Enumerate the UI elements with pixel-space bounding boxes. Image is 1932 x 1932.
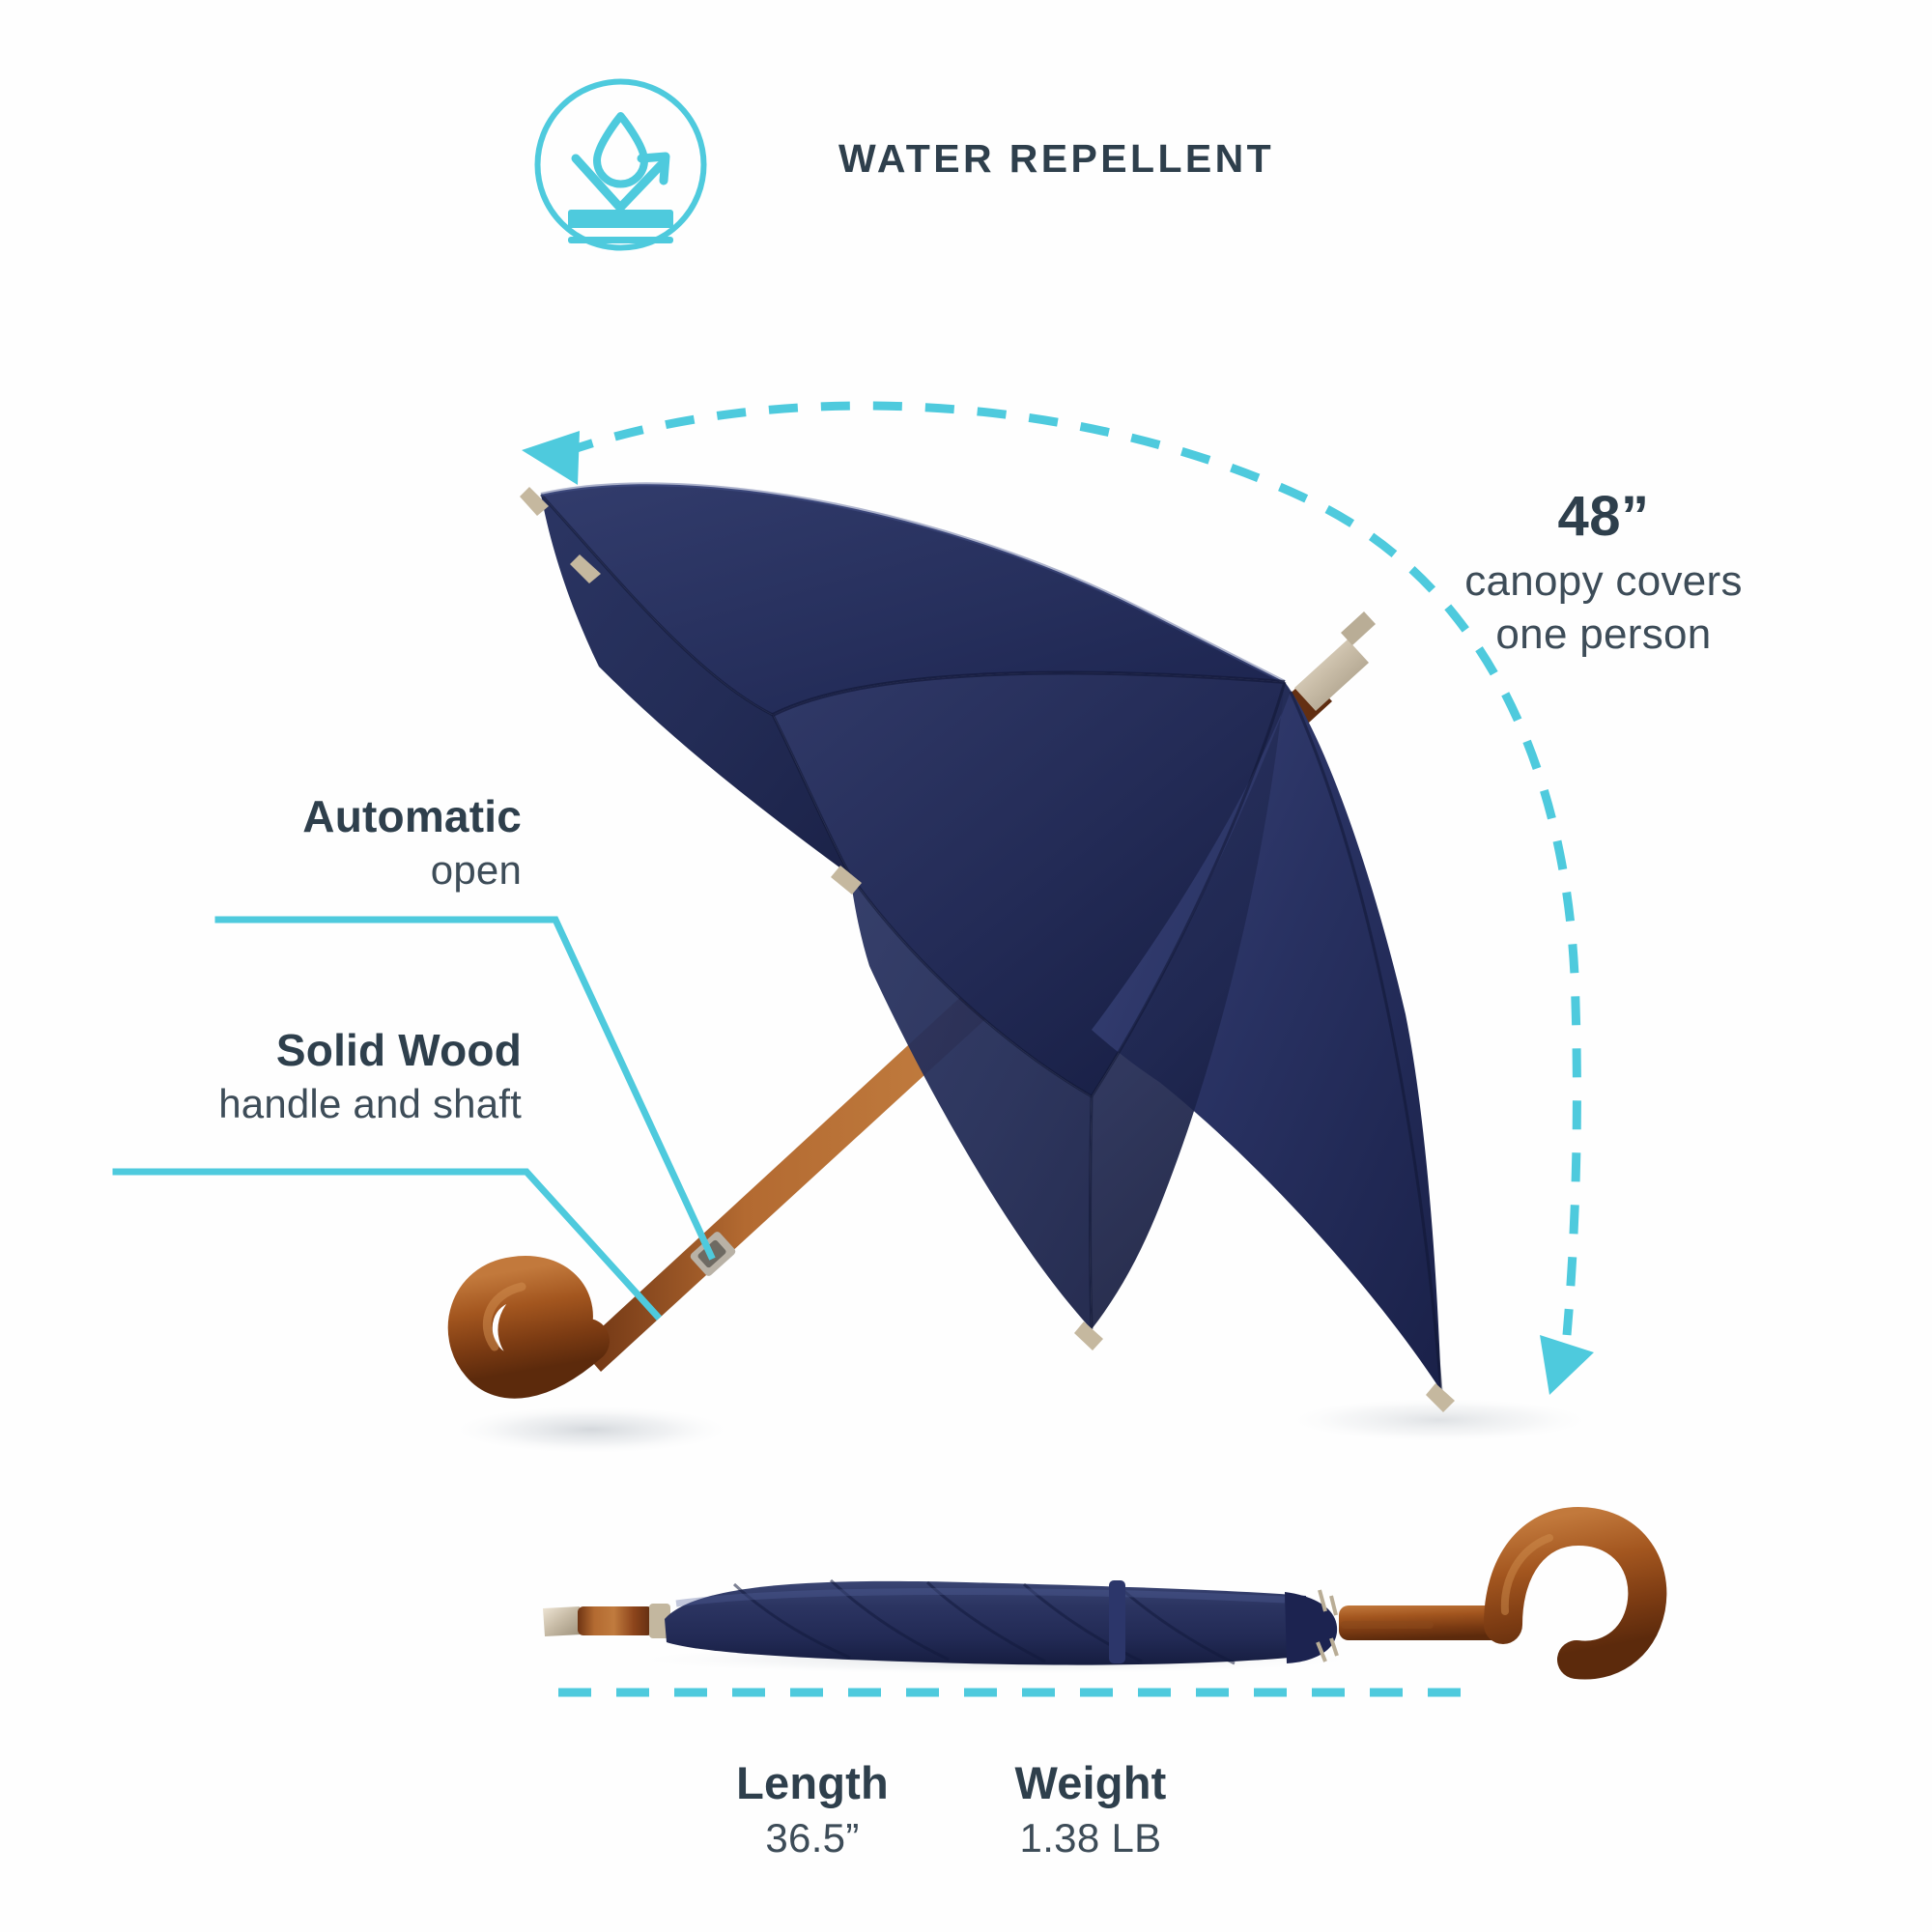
spec-weight-label: Weight: [980, 1758, 1202, 1808]
arrowhead-left: [522, 431, 580, 485]
page-title: WATER REPELLENT: [838, 136, 1274, 182]
spec-list: Length 36.5” Weight 1.38 LB: [667, 1758, 1236, 1862]
spec-length: Length 36.5”: [701, 1758, 923, 1862]
arrowhead-bottom: [1540, 1335, 1594, 1395]
leader-line-solid-wood: [116, 1172, 657, 1316]
callout-solid-wood: Solid Wood handle and shaft: [10, 1026, 522, 1128]
auto-open-latch: [689, 1230, 737, 1277]
canopy-size-value: 48”: [1381, 488, 1826, 547]
callout-automatic-title: Automatic: [29, 792, 522, 842]
callout-automatic-subtitle: open: [29, 846, 522, 895]
canopy-description: canopy covers one person: [1381, 554, 1826, 661]
canopy-tips: [520, 487, 1455, 1412]
spec-weight: Weight 1.38 LB: [980, 1758, 1202, 1862]
water-repellent-badge: WATER REPELLENT: [531, 75, 1304, 259]
callout-solid-wood-subtitle: handle and shaft: [10, 1080, 522, 1128]
canopy-description-line2: one person: [1381, 608, 1826, 661]
water-repellent-icon: [531, 75, 710, 254]
product-art-layer: [0, 0, 1932, 1932]
spec-length-label: Length: [701, 1758, 923, 1808]
canopy-description-line1: canopy covers: [1381, 554, 1826, 608]
spec-length-value: 36.5”: [701, 1814, 923, 1862]
annotation-layer: [0, 0, 1932, 1932]
callout-solid-wood-title: Solid Wood: [10, 1026, 522, 1076]
spec-weight-value: 1.38 LB: [980, 1814, 1202, 1862]
callout-automatic: Automatic open: [29, 792, 522, 895]
canopy-callout: 48” canopy covers one person: [1381, 488, 1826, 661]
closed-umbrella-image: [543, 1526, 1647, 1675]
infographic-page: WATER REPELLENT 48” canopy covers one pe…: [0, 0, 1932, 1932]
